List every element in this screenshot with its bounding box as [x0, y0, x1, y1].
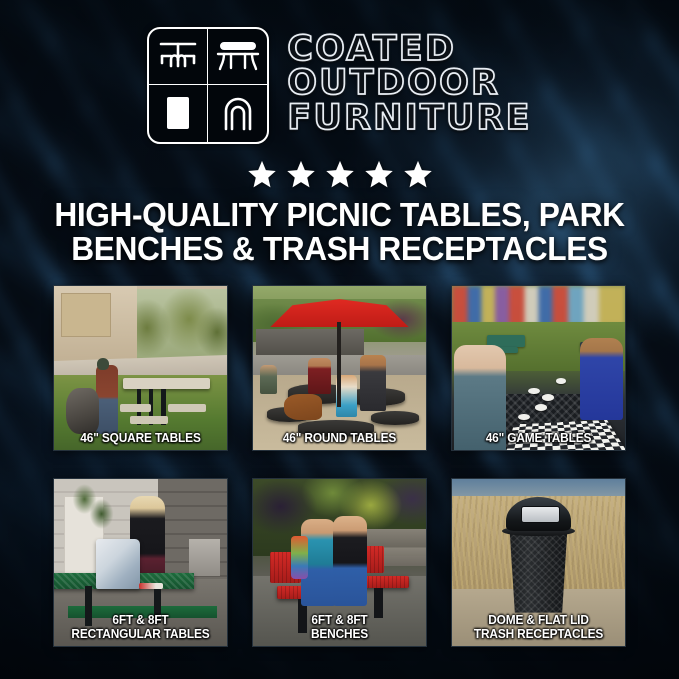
tile-caption-line-2: BENCHES — [260, 628, 419, 642]
tile-caption: 46" ROUND TABLES — [260, 432, 419, 446]
product-tile-square-tables[interactable]: 46" SQUARE TABLES — [53, 285, 228, 451]
tile-caption: 46" SQUARE TABLES — [61, 432, 220, 446]
product-tile-round-tables[interactable]: 46" ROUND TABLES — [252, 285, 427, 451]
headline-line-2: BENCHES & TRASH RECEPTACLES — [37, 232, 643, 266]
star-icon — [325, 159, 355, 189]
brand-word-furniture: FURNITURE — [287, 102, 532, 136]
tile-caption: 46" GAME TABLES — [459, 432, 618, 446]
headline-line-1: HIGH-QUALITY PICNIC TABLES, PARK — [37, 198, 643, 232]
tile-caption-line-2: RECTANGULAR TABLES — [61, 628, 220, 642]
star-icon — [286, 159, 316, 189]
product-photo-round-tables — [253, 286, 426, 450]
brand-logo: COATED OUTDOOR FURNITURE — [0, 24, 679, 146]
tile-caption-line-1: 46" ROUND TABLES — [260, 432, 419, 446]
star-icon — [403, 159, 433, 189]
brand-word-outdoor: OUTDOOR — [287, 67, 500, 101]
logo-mark-icon — [147, 27, 269, 144]
headline: HIGH-QUALITY PICNIC TABLES, PARK BENCHES… — [37, 198, 643, 266]
tile-caption: 6FT & 8FT BENCHES — [260, 614, 419, 641]
product-tile-benches[interactable]: 6FT & 8FT BENCHES — [252, 478, 427, 647]
tile-caption-line-1: 46" SQUARE TABLES — [61, 432, 220, 446]
product-tile-game-tables[interactable]: 46" GAME TABLES — [451, 285, 626, 451]
product-grid: 46" SQUARE TABLES — [53, 285, 626, 647]
star-icon — [364, 159, 394, 189]
brand-wordmark: COATED OUTDOOR FURNITURE — [287, 33, 532, 138]
brand-word-coated: COATED — [287, 33, 456, 67]
product-tile-rectangular-tables[interactable]: 6FT & 8FT RECTANGULAR TABLES — [53, 478, 228, 647]
bike-rack-icon — [208, 85, 267, 142]
tile-caption: DOME & FLAT LID TRASH RECEPTACLES — [459, 614, 618, 641]
tile-caption-line-2: TRASH RECEPTACLES — [459, 628, 618, 642]
tile-caption-line-1: DOME & FLAT LID — [459, 614, 618, 628]
park-bench-icon — [208, 29, 267, 86]
tile-caption: 6FT & 8FT RECTANGULAR TABLES — [61, 614, 220, 641]
promotional-poster: COATED OUTDOOR FURNITURE HIGH-QUALITY PI… — [0, 0, 679, 679]
star-rating — [0, 158, 679, 190]
trash-receptacle-icon — [149, 85, 208, 142]
tile-caption-line-1: 6FT & 8FT — [61, 614, 220, 628]
tile-caption-line-1: 6FT & 8FT — [260, 614, 419, 628]
product-photo-game-tables — [452, 286, 625, 450]
product-tile-trash-receptacles[interactable]: DOME & FLAT LID TRASH RECEPTACLES — [451, 478, 626, 647]
picnic-table-icon — [149, 29, 208, 86]
product-photo-square-tables — [54, 286, 227, 450]
tile-caption-line-1: 46" GAME TABLES — [459, 432, 618, 446]
star-icon — [247, 159, 277, 189]
